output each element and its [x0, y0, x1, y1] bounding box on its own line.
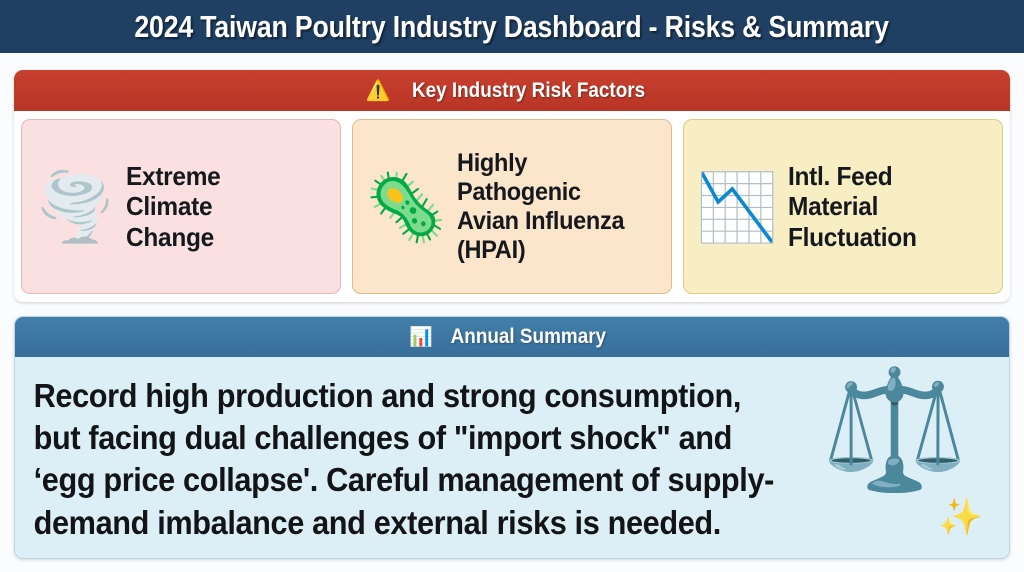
chart-decreasing-with-money-icon: 📉 [696, 174, 778, 240]
risk-factors-header: ⚠️ Key Industry Risk Factors [14, 70, 1010, 111]
risk-card-intl-feed-material-fluctuation[interactable]: 📉 Intl. Feed Material Fluctuation [683, 119, 1003, 294]
bar-chart-icon: 📊 [409, 328, 433, 347]
annual-summary-panel: 📊 Annual Summary Record high production … [14, 316, 1010, 559]
tornado-storm-icon: 🌪️ [34, 174, 116, 240]
risk-card-label-feed: Intl. Feed Material Fluctuation [788, 161, 917, 251]
risk-factors-panel: ⚠️ Key Industry Risk Factors 🌪️ Extreme … [14, 70, 1010, 302]
risk-card-label-hpai: Highly Pathogenic Avian Influenza (HPAI) [457, 149, 624, 265]
dashboard-title-bar: 2024 Taiwan Poultry Industry Dashboard -… [0, 0, 1024, 53]
annual-summary-header-label: Annual Summary [451, 325, 606, 349]
annual-summary-header: 📊 Annual Summary [15, 317, 1009, 357]
risk-factors-header-label: Key Industry Risk Factors [412, 79, 645, 103]
risk-card-label-climate: Extreme Climate Change [126, 161, 220, 251]
annual-summary-visual: ⚖️ ✨ [811, 365, 991, 545]
warning-triangle-icon: ⚠️ [366, 81, 391, 101]
dashboard-page: 2024 Taiwan Poultry Industry Dashboard -… [0, 0, 1024, 572]
page-title: 2024 Taiwan Poultry Industry Dashboard -… [135, 9, 889, 45]
risk-cards-row: 🌪️ Extreme Climate Change 🦠 Highly Patho… [14, 111, 1010, 302]
risk-card-highly-pathogenic-avian-influenza[interactable]: 🦠 Highly Pathogenic Avian Influenza (HPA… [352, 119, 672, 294]
balance-scale-icon: ⚖️ [821, 371, 968, 489]
risk-card-extreme-climate-change[interactable]: 🌪️ Extreme Climate Change [21, 119, 341, 294]
microbe-virus-icon: 🦠 [365, 174, 447, 240]
annual-summary-text: Record high production and strong consum… [15, 357, 939, 544]
sparkle-icon: ✨ [938, 499, 983, 535]
annual-summary-body: Record high production and strong consum… [15, 357, 1009, 558]
